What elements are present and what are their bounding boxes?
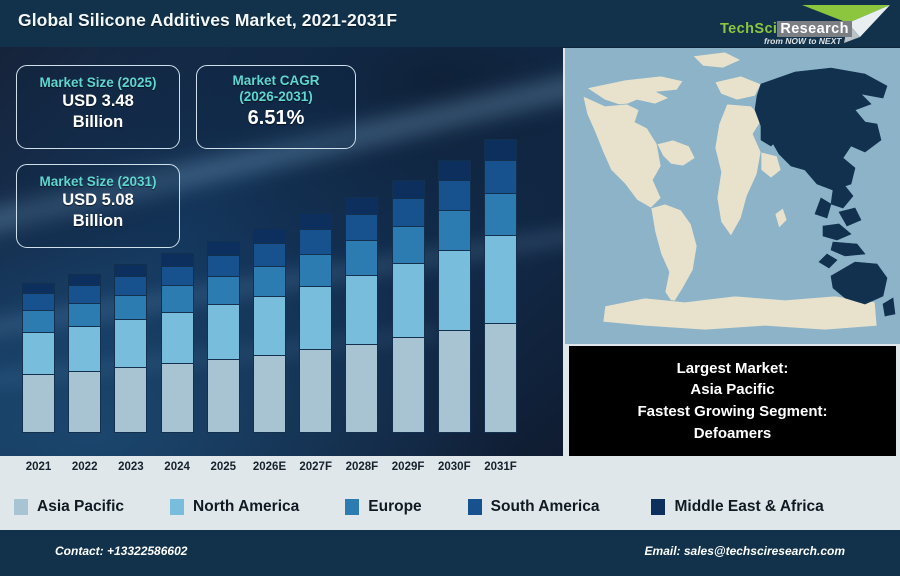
bar-segment — [392, 226, 425, 263]
legend-swatch — [14, 499, 28, 515]
bar-segment — [253, 243, 286, 265]
bar-segment — [207, 241, 240, 255]
bar-segment — [484, 193, 517, 236]
bar-segment — [392, 198, 425, 226]
chart-legend: Asia PacificNorth AmericaEuropeSouth Ame… — [0, 484, 900, 530]
bar-2031F[interactable] — [484, 139, 517, 433]
bar-segment — [114, 295, 147, 320]
bar-segment — [68, 371, 101, 433]
info-line-largest-market-value: Asia Pacific — [569, 379, 896, 401]
bar-segment — [22, 332, 55, 375]
bar-segment — [484, 235, 517, 323]
bar-segment — [392, 337, 425, 433]
logo-text-techsci: TechSci — [720, 21, 777, 37]
legend-swatch — [651, 499, 665, 515]
x-tick-2024: 2024 — [151, 461, 203, 473]
bar-segment — [114, 264, 147, 276]
bar-segment — [253, 266, 286, 296]
legend-label: Europe — [368, 498, 421, 516]
x-tick-2028F: 2028F — [336, 461, 388, 473]
bar-segment — [161, 266, 194, 286]
bar-segment — [207, 304, 240, 359]
page-title: Global Silicone Additives Market, 2021-2… — [18, 10, 397, 31]
legend-item-south-america[interactable]: South America — [468, 498, 600, 516]
bar-segment — [22, 374, 55, 433]
bar-segment — [68, 274, 101, 285]
bar-2030F[interactable] — [438, 160, 471, 433]
bar-2022[interactable] — [68, 274, 101, 433]
bar-2028F[interactable] — [345, 197, 378, 433]
bar-segment — [161, 312, 194, 363]
bar-segment — [484, 160, 517, 192]
bar-segment — [438, 210, 471, 250]
key-insights-box: Largest Market: Asia Pacific Fastest Gro… — [569, 346, 896, 456]
bar-segment — [345, 240, 378, 275]
x-tick-2025: 2025 — [197, 461, 249, 473]
info-line-largest-market-label: Largest Market: — [569, 358, 896, 380]
x-tick-2030F: 2030F — [428, 461, 480, 473]
bar-segment — [161, 253, 194, 266]
footer-email: Email: sales@techsciresearch.com — [645, 544, 845, 558]
x-tick-2021: 2021 — [13, 461, 65, 473]
bar-segment — [68, 326, 101, 371]
bar-segment — [484, 323, 517, 433]
x-tick-2022: 2022 — [59, 461, 111, 473]
bar-2023[interactable] — [114, 264, 147, 433]
bar-segment — [114, 367, 147, 433]
chart-panel: Market Size (2025) USD 3.48 Billion Mark… — [0, 47, 563, 456]
logo-tagline: from NOW to NEXT — [764, 36, 841, 46]
legend-label: Middle East & Africa — [674, 498, 823, 516]
legend-label: Asia Pacific — [37, 498, 124, 516]
bar-2025[interactable] — [207, 241, 240, 433]
world-map-svg — [565, 48, 900, 344]
bar-2024[interactable] — [161, 253, 194, 433]
bar-segment — [299, 254, 332, 286]
bar-segment — [299, 213, 332, 229]
bar-2021[interactable] — [22, 283, 55, 433]
bar-segment — [114, 276, 147, 294]
bar-segment — [438, 160, 471, 180]
x-tick-2029F: 2029F — [382, 461, 434, 473]
bar-segment — [22, 283, 55, 293]
bar-segment — [68, 303, 101, 326]
logo-wordmark: TechSciResearch — [720, 21, 852, 37]
legend-swatch — [468, 499, 482, 515]
bar-segment — [299, 349, 332, 433]
x-axis-labels: 202120222023202420252026E2027F2028F2029F… — [0, 456, 563, 484]
infographic-root: Global Silicone Additives Market, 2021-2… — [0, 0, 900, 576]
bar-segment — [253, 228, 286, 243]
legend-item-europe[interactable]: Europe — [345, 498, 421, 516]
bar-segment — [299, 286, 332, 349]
x-tick-2026E: 2026E — [244, 461, 296, 473]
legend-label: South America — [491, 498, 600, 516]
info-line-fastest-segment-label: Fastest Growing Segment: — [569, 401, 896, 423]
bar-segment — [345, 344, 378, 433]
legend-swatch — [345, 499, 359, 515]
bar-segment — [22, 293, 55, 309]
footer-bar: Contact: +13322586602 Email: sales@techs… — [0, 530, 900, 576]
header-bar: Global Silicone Additives Market, 2021-2… — [0, 0, 900, 48]
bar-segment — [392, 180, 425, 198]
bar-segment — [68, 285, 101, 302]
legend-item-north-america[interactable]: North America — [170, 498, 299, 516]
x-tick-2023: 2023 — [105, 461, 157, 473]
bar-segment — [161, 363, 194, 433]
bar-segment — [438, 250, 471, 331]
bar-segment — [114, 319, 147, 367]
bar-2027F[interactable] — [299, 213, 332, 433]
bar-segment — [438, 180, 471, 210]
legend-item-middle-east-africa[interactable]: Middle East & Africa — [651, 498, 823, 516]
x-tick-2027F: 2027F — [290, 461, 342, 473]
stacked-bar-plot — [0, 47, 563, 456]
bar-segment — [161, 285, 194, 312]
techsci-research-logo: TechSciResearch from NOW to NEXT — [712, 2, 894, 46]
legend-item-asia-pacific[interactable]: Asia Pacific — [14, 498, 124, 516]
bar-segment — [253, 296, 286, 355]
bar-segment — [345, 275, 378, 344]
legend-swatch — [170, 499, 184, 515]
bar-segment — [484, 139, 517, 160]
bar-2026E[interactable] — [253, 228, 286, 433]
legend-label: North America — [193, 498, 299, 516]
bar-segment — [253, 355, 286, 433]
bar-segment — [299, 229, 332, 253]
footer-contact: Contact: +13322586602 — [55, 544, 187, 558]
bar-segment — [207, 255, 240, 276]
bar-segment — [392, 263, 425, 337]
bar-segment — [22, 310, 55, 332]
bar-segment — [207, 359, 240, 433]
x-tick-2031F: 2031F — [475, 461, 527, 473]
bar-segment — [345, 214, 378, 240]
logo-text-research: Research — [777, 21, 852, 37]
bar-segment — [345, 197, 378, 214]
world-map — [565, 48, 900, 344]
bar-segment — [438, 330, 471, 433]
info-line-fastest-segment-value: Defoamers — [569, 423, 896, 445]
bar-segment — [207, 276, 240, 304]
bar-2029F[interactable] — [392, 180, 425, 433]
